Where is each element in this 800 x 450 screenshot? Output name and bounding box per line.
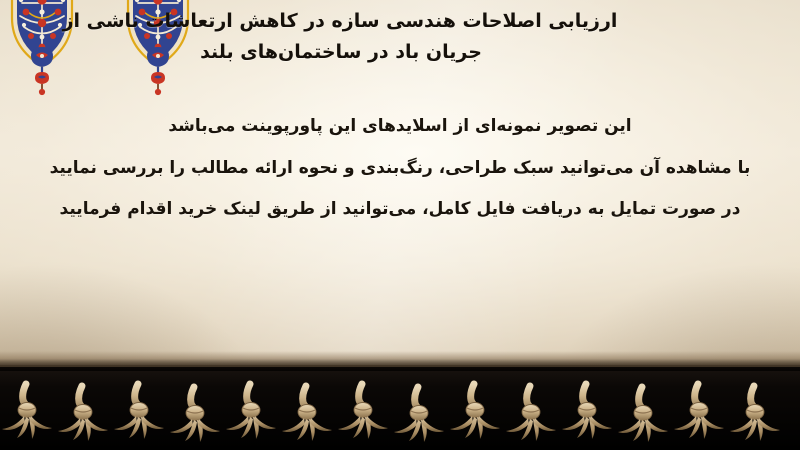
slide-body: این تصویر نمونه‌ای از اسلایدهای این پاور…: [0, 106, 800, 231]
carpet-fringe-zone: [0, 340, 800, 450]
slide-title: ارزیابی اصلاحات هندسی سازه در کاهش ارتعا…: [0, 6, 800, 68]
slide-canvas: ارزیابی اصلاحات هندسی سازه در کاهش ارتعا…: [0, 0, 800, 450]
body-line-1: این تصویر نمونه‌ای از اسلایدهای این پاور…: [0, 106, 800, 148]
title-line-2: جریان باد در ساختمان‌های بلند: [0, 37, 800, 68]
title-line-1: ارزیابی اصلاحات هندسی سازه در کاهش ارتعا…: [0, 6, 800, 37]
body-line-2: با مشاهده آن می‌توانید سبک طراحی، رنگ‌بن…: [0, 148, 800, 190]
carpet-tassel-fringe: [0, 340, 800, 450]
body-line-3: در صورت تمایل به دریافت فایل کامل، می‌تو…: [0, 189, 800, 231]
